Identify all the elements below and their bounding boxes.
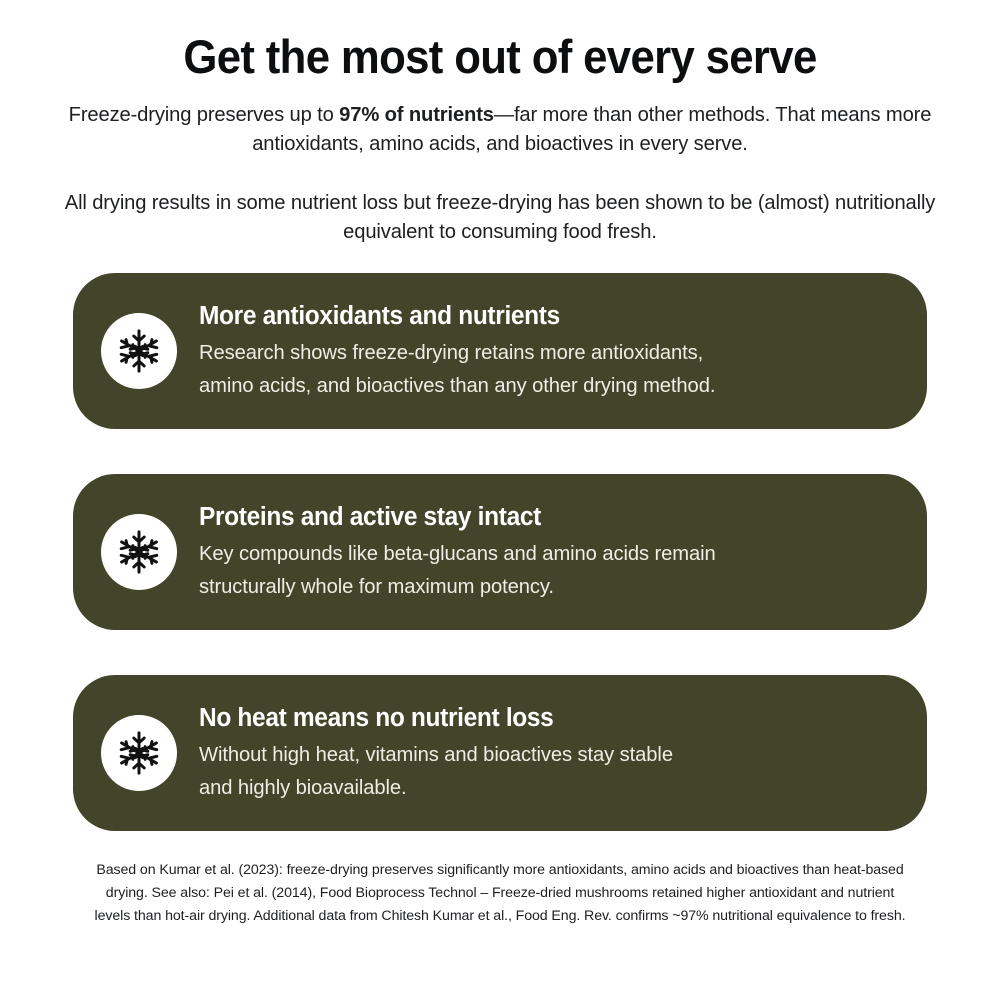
benefit-card-body-line: Key compounds like beta-glucans and amin… bbox=[199, 537, 716, 570]
page-title: Get the most out of every serve bbox=[72, 33, 928, 82]
benefit-card: More antioxidants and nutrients Research… bbox=[73, 273, 927, 429]
benefit-card: No heat means no nutrient loss Without h… bbox=[73, 675, 927, 831]
footnote-line: Based on Kumar et al. (2023): freeze-dry… bbox=[19, 859, 981, 882]
benefit-card-title: More antioxidants and nutrients bbox=[199, 302, 702, 331]
benefit-card-body-line: structurally whole for maximum potency. bbox=[199, 570, 716, 603]
intro-paragraph-1-before: Freeze-drying preserves up to bbox=[69, 103, 340, 126]
benefit-card-list: More antioxidants and nutrients Research… bbox=[73, 273, 927, 831]
benefit-card-text: More antioxidants and nutrients Research… bbox=[199, 300, 723, 402]
benefit-card-body: Research shows freeze-drying retains mor… bbox=[199, 336, 715, 402]
benefit-card-body-line: Research shows freeze-drying retains mor… bbox=[199, 336, 715, 369]
intro-block: Freeze-drying preserves up to 97% of nut… bbox=[35, 100, 965, 246]
intro-paragraph-1-highlight: 97% of nutrients bbox=[339, 103, 494, 126]
benefit-card-title: Proteins and active stay intact bbox=[199, 503, 703, 532]
snowflake-icon bbox=[101, 313, 177, 389]
benefit-card-text: Proteins and active stay intact Key comp… bbox=[199, 501, 723, 603]
source-footnote: Based on Kumar et al. (2023): freeze-dry… bbox=[19, 859, 981, 928]
footnote-line: levels than hot-air drying. Additional d… bbox=[19, 905, 981, 928]
benefit-card-text: No heat means no nutrient loss Without h… bbox=[199, 702, 680, 804]
benefit-card-body-line: and highly bioavailable. bbox=[199, 771, 673, 804]
footnote-line: drying. See also: Pei et al. (2014), Foo… bbox=[19, 882, 981, 905]
intro-paragraph-1: Freeze-drying preserves up to 97% of nut… bbox=[42, 100, 958, 159]
benefit-card-title: No heat means no nutrient loss bbox=[199, 704, 661, 733]
benefit-card: Proteins and active stay intact Key comp… bbox=[73, 474, 927, 630]
benefit-card-body: Key compounds like beta-glucans and amin… bbox=[199, 537, 716, 603]
benefit-card-body: Without high heat, vitamins and bioactiv… bbox=[199, 738, 673, 804]
infographic-page: Get the most out of every serve Freeze-d… bbox=[0, 0, 1000, 1000]
snowflake-icon bbox=[101, 715, 177, 791]
benefit-card-body-line: amino acids, and bioactives than any oth… bbox=[199, 369, 715, 402]
benefit-card-body-line: Without high heat, vitamins and bioactiv… bbox=[199, 738, 673, 771]
intro-paragraph-2: All drying results in some nutrient loss… bbox=[42, 188, 958, 247]
snowflake-icon bbox=[101, 514, 177, 590]
